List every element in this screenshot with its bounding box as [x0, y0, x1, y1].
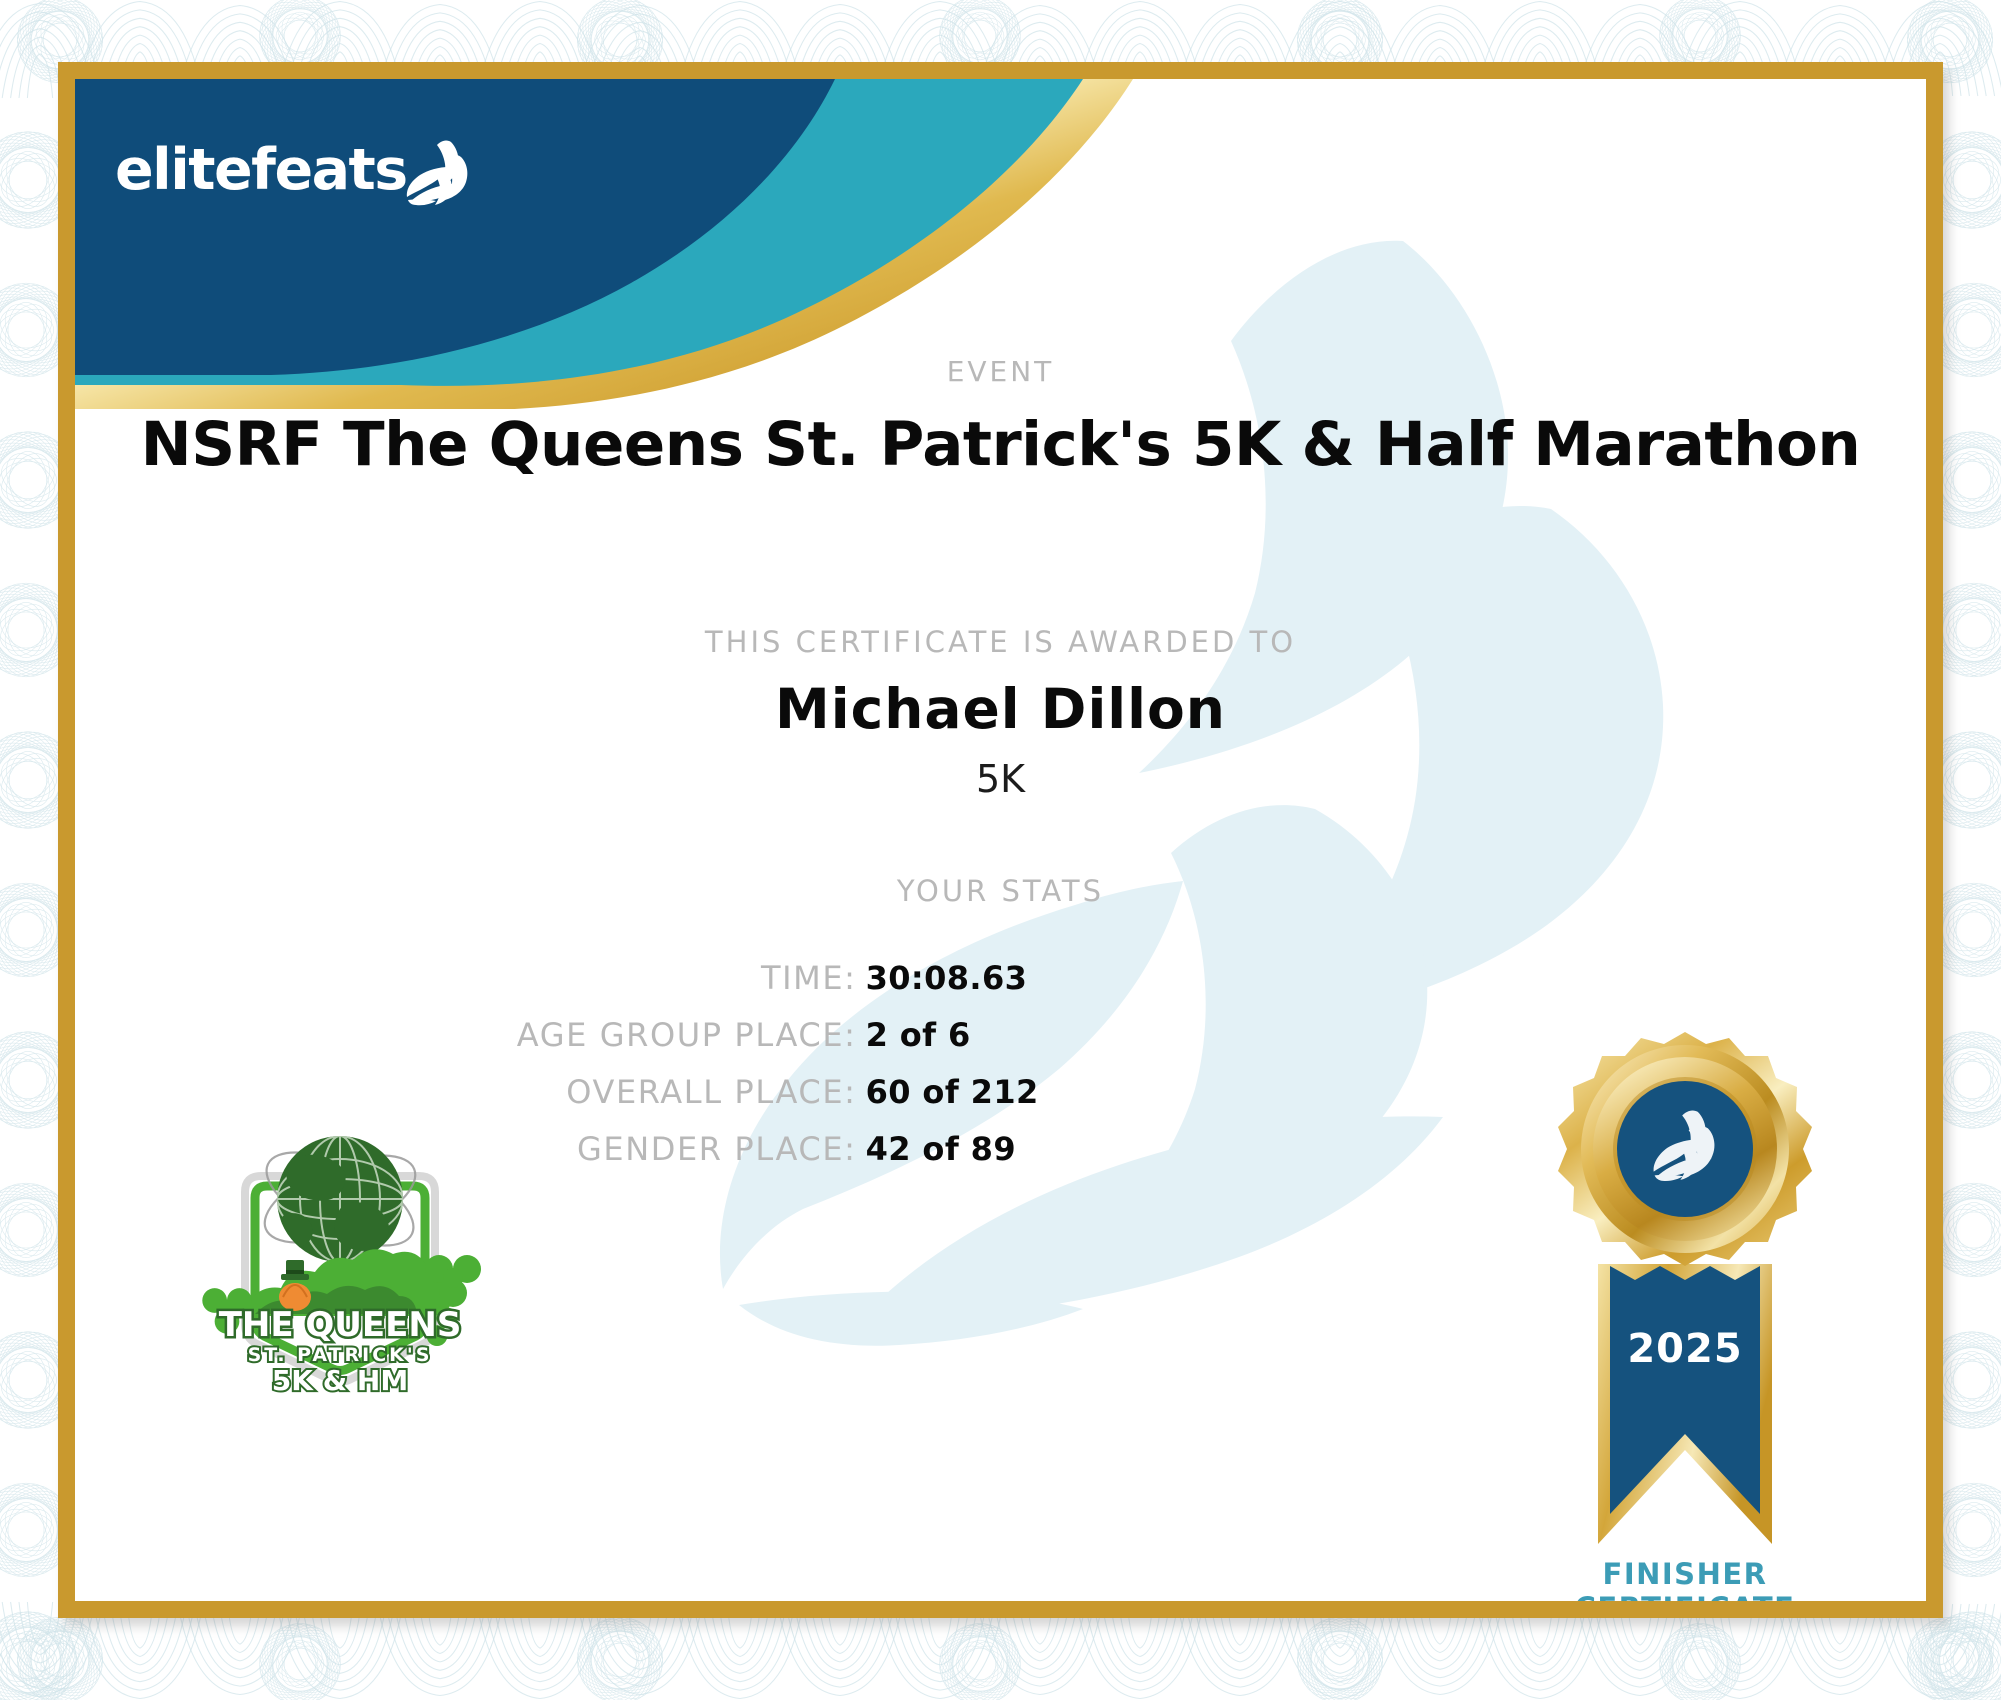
stat-value-gender-place: 42 of 89	[866, 1120, 1258, 1177]
stat-label-age-group-place: AGE GROUP PLACE:	[75, 1006, 866, 1063]
recipient-name: Michael Dillon	[75, 677, 1926, 741]
stat-value-time: 30:08.63	[866, 949, 1258, 1006]
table-row: TIME: 30:08.63	[75, 949, 1258, 1006]
race-event-logo: THE QUEENS ST. PATRICK'S 5K & HM	[185, 1114, 495, 1404]
awarded-to-label: THIS CERTIFICATE IS AWARDED TO	[75, 625, 1926, 659]
stat-label-overall-place: OVERALL PLACE:	[75, 1063, 866, 1120]
event-title: NSRF The Queens St. Patrick's 5K & Half …	[75, 409, 1926, 480]
medal-year: 2025	[1627, 1326, 1742, 1372]
event-label: EVENT	[75, 355, 1926, 388]
finisher-caption-line2: CERTIFICATE	[1512, 1591, 1858, 1601]
stat-value-overall-place: 60 of 212	[866, 1063, 1258, 1120]
finisher-certificate-caption: FINISHER CERTIFICATE	[1512, 1557, 1858, 1601]
table-row: OVERALL PLACE: 60 of 212	[75, 1063, 1258, 1120]
ribbon-navy	[1610, 1266, 1760, 1514]
finisher-caption-line1: FINISHER	[1512, 1557, 1858, 1591]
stat-value-age-group-place: 2 of 6	[866, 1006, 1258, 1063]
event-distance: 5K	[75, 757, 1926, 801]
certificate-body: elitefeats EVENT NSRF The Queens St. Pat…	[75, 79, 1926, 1601]
race-logo-line1: THE QUEENS	[219, 1305, 462, 1345]
table-row: AGE GROUP PLACE: 2 of 6	[75, 1006, 1258, 1063]
gold-border-frame: elitefeats EVENT NSRF The Queens St. Pat…	[58, 62, 1943, 1618]
finisher-medal-badge: 2025	[1520, 1014, 1850, 1594]
certificate-page: elitefeats EVENT NSRF The Queens St. Pat…	[0, 0, 2001, 1700]
stat-label-time: TIME:	[75, 949, 866, 1006]
certificate-content: EVENT NSRF The Queens St. Patrick's 5K &…	[75, 79, 1926, 1601]
race-logo-line3: 5K & HM	[272, 1364, 408, 1397]
race-logo-line2: ST. PATRICK'S	[248, 1344, 433, 1366]
your-stats-label: YOUR STATS	[75, 874, 1926, 908]
